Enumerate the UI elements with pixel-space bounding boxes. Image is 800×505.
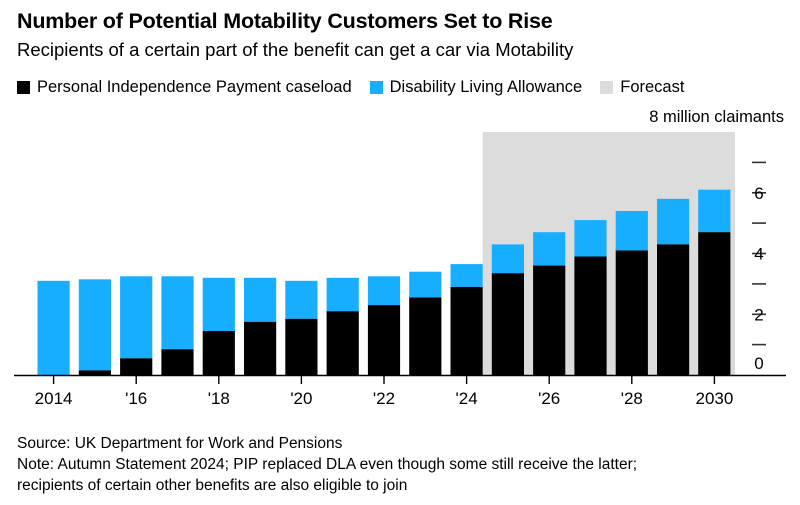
bar-segment-dla <box>120 276 152 358</box>
bar-segment-pip <box>451 287 483 375</box>
bar-segment-pip <box>120 358 152 375</box>
legend-item-forecast: Forecast <box>600 78 684 96</box>
bar-segment-pip <box>574 257 606 376</box>
legend-label-pip: Personal Independence Payment caseload <box>37 78 352 96</box>
chart-footnotes: Source: UK Department for Work and Pensi… <box>17 433 787 496</box>
x-axis-tick-label: '24 <box>456 389 478 408</box>
x-axis-tick-label: 2014 <box>35 389 73 408</box>
bar-segment-pip <box>657 244 689 375</box>
y-axis-tick-label: 4 <box>754 245 763 264</box>
bar-segment-pip <box>79 370 111 375</box>
bar-segment-dla <box>492 244 524 273</box>
bar-segment-pip <box>368 305 400 375</box>
legend-label-dla: Disability Living Allowance <box>390 78 583 96</box>
bar-segment-dla <box>368 276 400 305</box>
bar-segment-pip <box>285 319 317 375</box>
chart-legend: Personal Independence Payment caseload D… <box>17 76 702 98</box>
legend-item-dla: Disability Living Allowance <box>370 78 583 96</box>
bar-segment-pip <box>698 232 730 375</box>
x-axis-tick-label: '16 <box>125 389 147 408</box>
bar-segment-pip <box>616 251 648 376</box>
bar-segment-pip <box>492 273 524 375</box>
bar-segment-dla <box>285 281 317 319</box>
bar-segment-dla <box>327 278 359 311</box>
x-axis-tick-label: 2030 <box>695 389 733 408</box>
footer-note-line2: recipients of certain other benefits are… <box>17 475 787 496</box>
y-axis-unit-label: 8 million claimants <box>649 108 784 127</box>
x-axis-tick-label: '18 <box>208 389 230 408</box>
bar-segment-dla <box>657 199 689 245</box>
x-axis-tick-label: '28 <box>621 389 643 408</box>
footer-source: Source: UK Department for Work and Pensi… <box>17 433 787 454</box>
bar-segment-dla <box>38 281 70 375</box>
bar-segment-dla <box>161 276 193 349</box>
bar-segment-pip <box>533 266 565 375</box>
y-axis-tick-label: 2 <box>754 305 763 324</box>
bar-segment-pip <box>161 349 193 375</box>
bar-segment-pip <box>327 311 359 375</box>
chart-subtitle: Recipients of a certain part of the bene… <box>17 38 573 62</box>
x-axis-tick-label: '22 <box>373 389 395 408</box>
legend-swatch-forecast-icon <box>600 81 613 94</box>
x-axis-tick-label: '20 <box>290 389 312 408</box>
bar-segment-dla <box>244 278 276 322</box>
legend-label-forecast: Forecast <box>620 78 684 96</box>
footer-note-line1: Note: Autumn Statement 2024; PIP replace… <box>17 454 787 475</box>
legend-item-pip: Personal Independence Payment caseload <box>17 78 352 96</box>
bar-segment-pip <box>244 322 276 375</box>
bar-segment-dla <box>79 279 111 370</box>
bar-segment-dla <box>616 211 648 251</box>
legend-swatch-pip-icon <box>17 81 30 94</box>
chart-page: Number of Potential Motability Customers… <box>0 0 800 505</box>
bar-segment-pip <box>409 298 441 376</box>
bar-segment-dla <box>409 272 441 298</box>
bar-segment-dla <box>574 220 606 257</box>
bar-segment-dla <box>698 190 730 233</box>
legend-swatch-dla-icon <box>370 81 383 94</box>
bar-segment-dla <box>533 232 565 265</box>
y-axis-tick-label: 0 <box>754 354 763 373</box>
bar-segment-pip <box>203 331 235 375</box>
bar-segment-dla <box>203 278 235 331</box>
x-axis-tick-label: '26 <box>538 389 560 408</box>
bar-segment-dla <box>451 264 483 287</box>
forecast-band <box>483 132 735 375</box>
chart-title: Number of Potential Motability Customers… <box>17 8 553 34</box>
y-axis-tick-label: 6 <box>754 184 763 203</box>
